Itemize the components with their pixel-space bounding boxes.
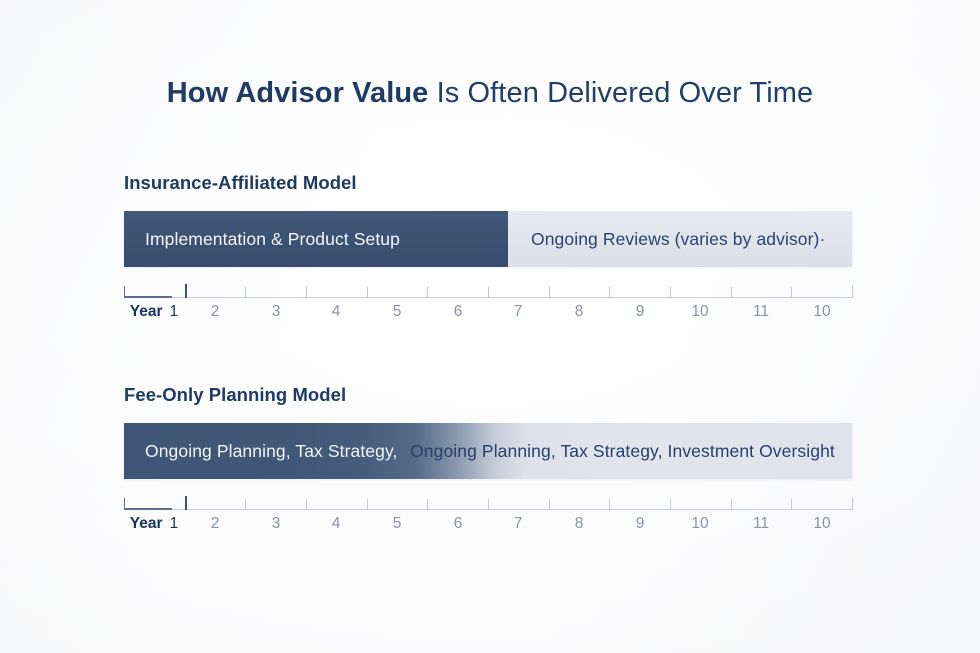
axis-insurance: Year123456789101110 xyxy=(124,283,852,327)
axis-label: 2 xyxy=(211,514,220,534)
axis-tick xyxy=(488,287,489,298)
bar-segment-implementation[interactable]: Implementation & Product Setup xyxy=(124,211,508,267)
page-title-light: Is Often Delivered Over Time xyxy=(428,77,813,109)
axis-label: 10 xyxy=(691,302,708,322)
axis-tick xyxy=(367,499,368,510)
axis-label-value: 1 xyxy=(170,303,179,320)
axis-label: 5 xyxy=(393,514,402,534)
axis-label-value: 1 xyxy=(170,515,179,532)
axis-tick xyxy=(245,499,246,510)
section-heading-feeonly: Fee-Only Planning Model xyxy=(124,384,856,406)
axis-tick xyxy=(791,499,792,510)
axis-label: 6 xyxy=(454,514,463,534)
axis-label: 3 xyxy=(272,514,281,534)
axis-tick xyxy=(185,284,187,298)
axis-tick xyxy=(245,287,246,298)
axis-label: 11 xyxy=(753,514,769,534)
page-title: How Advisor Value Is Often Delivered Ove… xyxy=(0,74,980,112)
axis-tick xyxy=(731,499,732,510)
axis-tick xyxy=(731,287,732,298)
bar-fee-only-planning: Ongoing Planning, Tax Strategy, Ongoing … xyxy=(124,423,852,479)
axis-label: 10 xyxy=(813,302,830,322)
page-title-strong: How Advisor Value xyxy=(167,77,429,109)
axis-year-word: Year xyxy=(130,515,163,532)
axis-label: 8 xyxy=(575,514,584,534)
axis-tick xyxy=(549,499,550,510)
axis-label: 11 xyxy=(753,302,769,322)
axis-tick xyxy=(791,287,792,298)
axis-label: 7 xyxy=(514,514,523,534)
axis-label: 2 xyxy=(211,302,220,322)
bar-segment-label: Ongoing Planning, Tax Strategy, Investme… xyxy=(402,441,835,461)
axis-tick xyxy=(670,499,671,510)
axis-label: 6 xyxy=(454,302,463,322)
axis-tick xyxy=(124,498,125,510)
axis-tick xyxy=(488,499,489,510)
axis-tick xyxy=(427,499,428,510)
bar-segment-ongoing-planning-right[interactable]: Ongoing Planning, Tax Strategy, Investme… xyxy=(402,423,852,479)
axis-label-year-1: Year1 xyxy=(130,302,178,322)
axis-tick xyxy=(367,287,368,298)
bar-insurance-affiliated: Implementation & Product Setup Ongoing R… xyxy=(124,211,852,267)
axis-label: 10 xyxy=(813,514,830,534)
axis-tick xyxy=(185,496,187,510)
bar-segment-label: Implementation & Product Setup xyxy=(124,229,400,249)
axis-label: 5 xyxy=(393,302,402,322)
axis-tick xyxy=(124,286,125,298)
axis-tick xyxy=(852,285,853,298)
axis-tick xyxy=(306,287,307,298)
axis-fee-only: Year123456789101110 xyxy=(124,495,852,539)
axis-tick xyxy=(306,499,307,510)
axis-label: 9 xyxy=(636,302,645,322)
axis-year-word: Year xyxy=(130,303,163,320)
axis-label: 4 xyxy=(332,302,341,322)
axis-label: 4 xyxy=(332,514,341,534)
axis-first-year-bracket xyxy=(124,508,172,510)
chart-canvas: How Advisor Value Is Often Delivered Ove… xyxy=(0,0,980,653)
section-heading-insurance: Insurance-Affiliated Model xyxy=(124,172,856,194)
axis-label: 3 xyxy=(272,302,281,322)
section-fee-only-planning-model: Fee-Only Planning Model Ongoing Planning… xyxy=(124,384,856,539)
bar-segment-ongoing-reviews[interactable]: Ongoing Reviews (varies by advisor)· xyxy=(508,211,852,267)
axis-tick xyxy=(609,499,610,510)
axis-label-year-1: Year1 xyxy=(130,514,178,534)
section-insurance-affiliated-model: Insurance-Affiliated Model Implementatio… xyxy=(124,172,856,327)
axis-tick xyxy=(427,287,428,298)
axis-label: 10 xyxy=(691,514,708,534)
axis-tick xyxy=(609,287,610,298)
axis-label: 7 xyxy=(514,302,523,322)
axis-first-year-bracket xyxy=(124,296,172,298)
axis-tick xyxy=(549,287,550,298)
axis-tick xyxy=(670,287,671,298)
bar-segment-ongoing-planning-left[interactable]: Ongoing Planning, Tax Strategy, xyxy=(124,423,402,479)
bar-segment-label: Ongoing Planning, Tax Strategy, xyxy=(124,441,397,461)
axis-label: 8 xyxy=(575,302,584,322)
axis-label: 9 xyxy=(636,514,645,534)
bar-segment-label: Ongoing Reviews (varies by advisor)· xyxy=(508,229,825,249)
axis-tick xyxy=(852,497,853,510)
